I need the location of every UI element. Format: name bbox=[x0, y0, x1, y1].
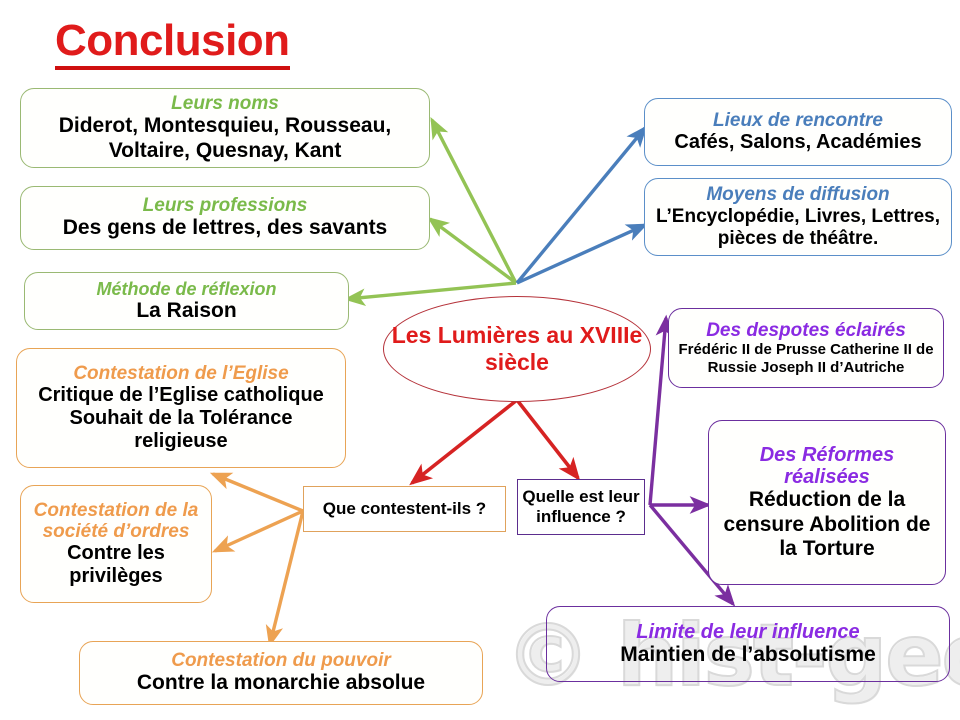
node-heading: Contestation de l’Eglise bbox=[23, 363, 339, 384]
node-heading: Méthode de réflexion bbox=[31, 279, 342, 299]
arrow-to-quelle-influence bbox=[517, 400, 578, 478]
question-box-quelle-influence[interactable]: Quelle est leur influence ? bbox=[517, 479, 645, 535]
node-contestation-societe[interactable]: Contestation de la société d’ordres Cont… bbox=[20, 485, 212, 603]
page-title: Conclusion bbox=[55, 18, 290, 70]
node-contestation-eglise[interactable]: Contestation de l’Eglise Critique de l’E… bbox=[16, 348, 346, 468]
node-heading: Limite de leur influence bbox=[553, 621, 943, 643]
arrow-to-contestation-eglise bbox=[213, 474, 303, 511]
node-heading: Leurs professions bbox=[27, 195, 423, 216]
node-body: Diderot, Montesquieu, Rousseau, Voltaire… bbox=[27, 114, 423, 163]
node-despotes-eclaires[interactable]: Des despotes éclairés Frédéric II de Pru… bbox=[668, 308, 944, 388]
arrow-to-que-contestent bbox=[412, 400, 517, 483]
node-reformes-realisees[interactable]: Des Réformes réalisées Réduction de la c… bbox=[708, 420, 946, 585]
node-heading: Des Réformes réalisées bbox=[715, 444, 939, 489]
arrow-to-moyens-diffusion bbox=[517, 225, 645, 283]
node-heading: Contestation de la société d’ordres bbox=[27, 500, 205, 543]
node-heading: Lieux de rencontre bbox=[651, 110, 945, 131]
arrow-to-leurs-professions bbox=[430, 219, 516, 283]
node-body: La Raison bbox=[31, 299, 342, 323]
node-heading: Moyens de diffusion bbox=[651, 184, 945, 205]
node-lieux-rencontre[interactable]: Lieux de rencontre Cafés, Salons, Académ… bbox=[644, 98, 952, 166]
node-body: Frédéric II de Prusse Catherine II de Ru… bbox=[675, 341, 937, 376]
node-leurs-professions[interactable]: Leurs professions Des gens de lettres, d… bbox=[20, 186, 430, 250]
node-leurs-noms[interactable]: Leurs noms Diderot, Montesquieu, Roussea… bbox=[20, 88, 430, 168]
arrow-to-lieux-rencontre bbox=[517, 128, 645, 283]
node-body: Maintien de l’absolutisme bbox=[553, 643, 943, 667]
node-body: Cafés, Salons, Académies bbox=[651, 131, 945, 154]
node-moyens-diffusion[interactable]: Moyens de diffusion L’Encyclopédie, Livr… bbox=[644, 178, 952, 256]
arrow-to-leurs-noms bbox=[432, 120, 516, 283]
node-heading: Des despotes éclairés bbox=[675, 320, 937, 341]
node-body: L’Encyclopédie, Livres, Lettres, pièces … bbox=[651, 206, 945, 250]
arrow-to-despotes-eclaires bbox=[650, 318, 666, 505]
arrow-to-contestation-societe bbox=[215, 511, 303, 551]
node-contestation-pouvoir[interactable]: Contestation du pouvoir Contre la monarc… bbox=[79, 641, 483, 705]
node-heading: Contestation du pouvoir bbox=[86, 650, 476, 671]
node-body: Critique de l’Eglise catholique Souhait … bbox=[23, 384, 339, 454]
node-body: Contre les privilèges bbox=[27, 542, 205, 588]
node-body: Contre la monarchie absolue bbox=[86, 671, 476, 695]
node-methode-reflexion[interactable]: Méthode de réflexion La Raison bbox=[24, 272, 349, 330]
question-box-que-contestent-ils[interactable]: Que contestent-ils ? bbox=[303, 486, 506, 532]
node-body: Des gens de lettres, des savants bbox=[27, 216, 423, 240]
conclusion-mindmap: © hist-geo.fr bbox=[0, 0, 960, 720]
node-body: Réduction de la censure Abolition de la … bbox=[715, 488, 939, 561]
node-limite-influence[interactable]: Limite de leur influence Maintien de l’a… bbox=[546, 606, 950, 682]
central-node-les-lumieres[interactable]: Les Lumières au XVIIIe siècle bbox=[383, 296, 651, 402]
node-heading: Leurs noms bbox=[27, 93, 423, 114]
arrow-to-contestation-pouvoir bbox=[270, 511, 303, 644]
